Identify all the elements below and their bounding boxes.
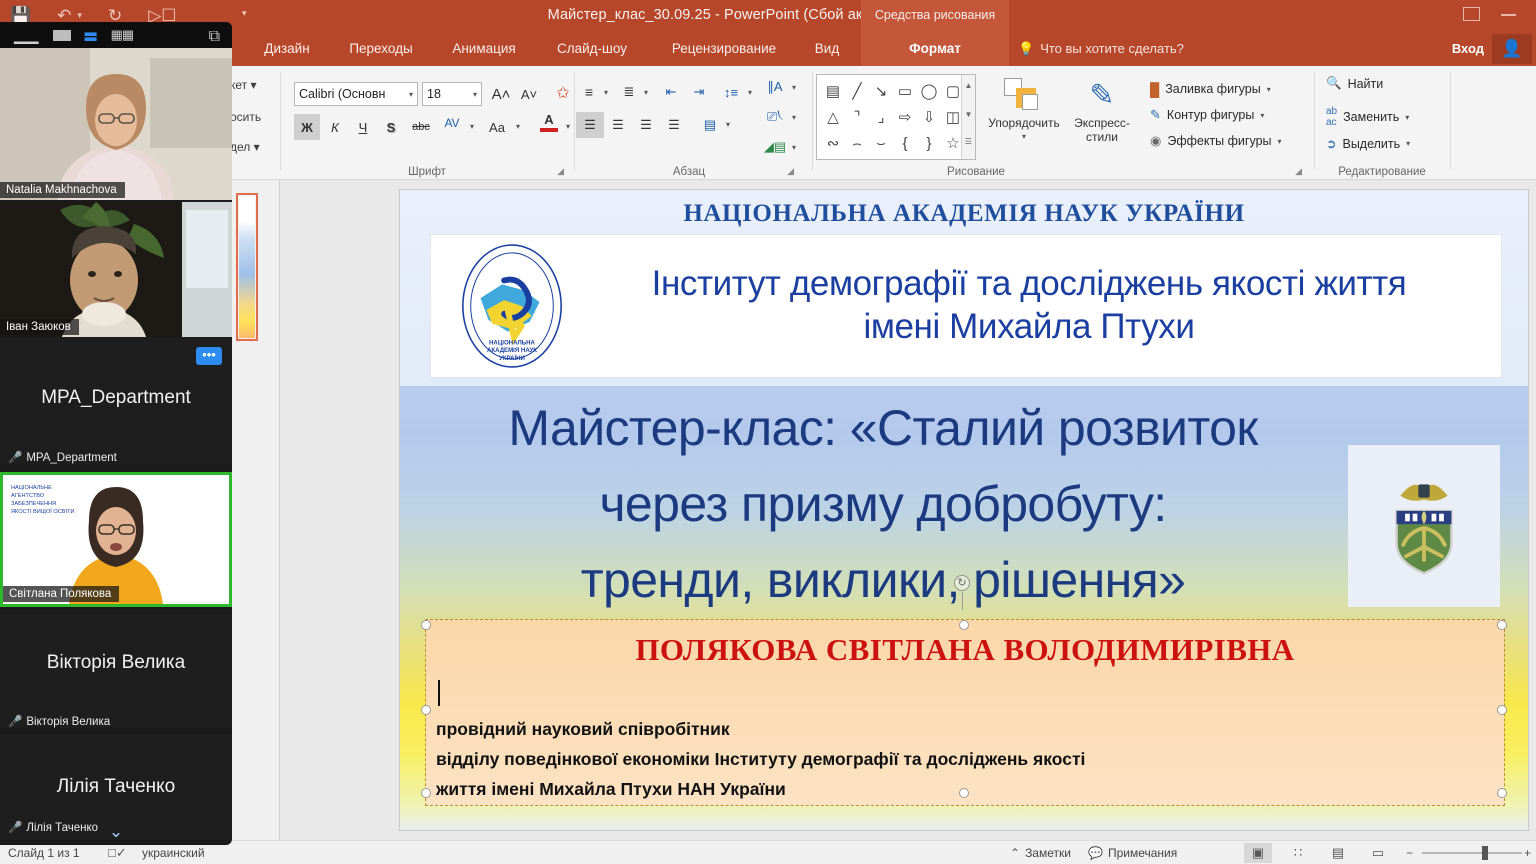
replace-icon: abac bbox=[1326, 106, 1337, 128]
tab-format[interactable]: Формат bbox=[861, 31, 1009, 66]
change-case-button[interactable]: Aa bbox=[482, 114, 512, 140]
notes-icon: ⌃ bbox=[1010, 843, 1020, 863]
strikethrough-button[interactable]: abc bbox=[406, 114, 436, 140]
reading-view-button[interactable]: ▤ bbox=[1324, 843, 1352, 863]
participant-name-mpa: MPA_Department bbox=[0, 387, 232, 409]
powerpoint-window: 💾 ↶ ▾ ↻ ▷☐ ▾ Майстер_клас_30.09.25 - Pow… bbox=[0, 0, 1536, 864]
institute-name: Інститут демографії та досліджень якості… bbox=[571, 263, 1501, 348]
font-size-value: 18 bbox=[427, 87, 441, 101]
search-icon: 🔍 bbox=[1326, 76, 1342, 91]
quick-styles-icon: ✎ bbox=[1064, 76, 1140, 116]
text-cursor bbox=[438, 680, 440, 706]
find-button[interactable]: 🔍 Найти bbox=[1326, 76, 1383, 91]
shape-oval-icon[interactable]: ◯ bbox=[917, 79, 941, 105]
shapes-gallery[interactable]: ▤ ╱ ↘ ▭ ◯ ▢ △ ⌝ ⌟ ⇨ ⇩ ◫ ∾ ⌢ ⌣ { } bbox=[816, 74, 976, 160]
lightbulb-icon: 💡 bbox=[1018, 41, 1034, 56]
restore-window-button[interactable] bbox=[1463, 7, 1480, 21]
svg-text:ЯКОСТІ ВИЩОЇ ОСВІТИ: ЯКОСТІ ВИЩОЇ ОСВІТИ bbox=[11, 508, 75, 515]
svg-text:НАЦІОНАЛЬНЕ: НАЦІОНАЛЬНЕ bbox=[11, 485, 52, 491]
speaker-name: ПОЛЯКОВА СВІТЛАНА ВОЛОДИМИРІВНА bbox=[426, 632, 1504, 668]
popout-icon[interactable]: ⧉ bbox=[209, 28, 220, 46]
smartart-caret[interactable]: ▾ bbox=[788, 138, 800, 156]
participant-name-liliia: Лілія Таченко bbox=[0, 776, 232, 798]
speaker-role: провідний науковий співробітник відділу … bbox=[436, 714, 1471, 804]
shape-fill-button[interactable]: █ Заливка фигуры ▾ bbox=[1150, 76, 1300, 102]
align-left-icon[interactable]: ☰ bbox=[576, 112, 604, 138]
columns-caret[interactable]: ▾ bbox=[722, 114, 734, 134]
text-direction-icon[interactable]: ∥A bbox=[762, 76, 788, 98]
tab-animations[interactable]: Анимация bbox=[440, 31, 528, 66]
group-drawing: ▤ ╱ ↘ ▭ ◯ ▢ △ ⌝ ⌟ ⇨ ⇩ ◫ ∾ ⌢ ⌣ { } bbox=[816, 66, 1308, 180]
participant-name-svitlana: Світлана Полякова bbox=[9, 588, 111, 600]
academy-header-text: НАЦІОНАЛЬНА АКАДЕМІЯ НАУК УКРАЇНИ bbox=[400, 200, 1528, 228]
group-drawing-label: Рисование bbox=[816, 166, 1136, 178]
shape-fill-caret[interactable]: ▾ bbox=[1267, 85, 1271, 94]
video-tile-natalia[interactable]: Natalia Makhnachova bbox=[0, 48, 232, 200]
text-direction-caret[interactable]: ▾ bbox=[788, 78, 800, 96]
quick-styles-button[interactable]: ✎ Экспресс-стили bbox=[1064, 76, 1140, 144]
video-tile-svitlana[interactable]: НАЦІОНАЛЬНЕ АГЕНТСТВО ЗАБЕЗПЕЧЕННЯ ЯКОСТ… bbox=[0, 472, 232, 607]
slide-canvas[interactable]: НАЦІОНАЛЬНА АКАДЕМІЯ НАУК УКРАЇНИ НАЦІОН… bbox=[400, 190, 1528, 830]
resize-handle-top-center[interactable] bbox=[959, 620, 969, 630]
line-spacing-caret[interactable]: ▾ bbox=[744, 82, 756, 102]
strip-view-icon[interactable]: ▬▬ bbox=[85, 30, 97, 40]
resize-handle-middle-right[interactable] bbox=[1497, 705, 1507, 715]
shape-outline-caret[interactable]: ▾ bbox=[1260, 111, 1264, 120]
tab-view[interactable]: Вид bbox=[806, 31, 848, 66]
speaker-role-line-3: життя імені Михайла Птухи НАН України bbox=[436, 774, 1471, 804]
font-color-letter: A bbox=[544, 114, 553, 126]
align-text-icon[interactable]: ⎚⎝ bbox=[762, 106, 788, 128]
shape-right-brace-icon[interactable]: } bbox=[917, 131, 941, 157]
shape-arc-icon[interactable]: ⌣ bbox=[869, 131, 893, 157]
align-text-caret[interactable]: ▾ bbox=[788, 108, 800, 126]
notes-label: Заметки bbox=[1025, 843, 1071, 863]
participant-name-natalia: Natalia Makhnachova bbox=[6, 184, 117, 196]
shape-left-brace-icon[interactable]: { bbox=[893, 131, 917, 157]
find-label: Найти bbox=[1348, 77, 1384, 91]
participant-strip-label-viktoriia: Вікторія Велика bbox=[26, 716, 110, 728]
replace-button[interactable]: abac Заменить ▾ bbox=[1326, 106, 1409, 128]
mic-muted-icon: 🎤 bbox=[8, 452, 22, 464]
svg-text:ЗАБЕЗПЕЧЕННЯ: ЗАБЕЗПЕЧЕННЯ bbox=[11, 501, 56, 507]
zoom-out-button[interactable]: − bbox=[1406, 844, 1413, 862]
participant-strip-viktoriia: 🎤Вікторія Велика bbox=[8, 714, 110, 728]
zoom-slider[interactable] bbox=[1422, 852, 1522, 854]
clear-formatting-icon[interactable]: ✩ bbox=[550, 80, 576, 106]
text-shadow-button[interactable]: S bbox=[378, 114, 404, 140]
resize-handle-top-left[interactable] bbox=[421, 620, 431, 630]
bullets-caret[interactable]: ▾ bbox=[600, 82, 612, 102]
shape-effects-button[interactable]: ◉ Эффекты фигуры ▾ bbox=[1150, 128, 1300, 154]
font-size-combobox[interactable]: 18 ▾ bbox=[422, 82, 482, 106]
tab-transitions[interactable]: Переходы bbox=[338, 31, 424, 66]
replace-label: Заменить bbox=[1343, 110, 1399, 124]
scroll-down-chevron[interactable]: ⌄ bbox=[0, 822, 232, 842]
slide-counter[interactable]: Слайд 1 из 1 bbox=[8, 844, 80, 862]
group-editing: 🔍 Найти abac Заменить ▾ ➲ Выделить ▾ Ред… bbox=[1318, 66, 1446, 180]
comment-icon: 💬 bbox=[1088, 843, 1103, 863]
align-right-icon[interactable]: ☰ bbox=[632, 112, 660, 138]
participant-name-viktoriia: Вікторія Велика bbox=[0, 652, 232, 674]
spellcheck-icon[interactable]: □✓ bbox=[108, 844, 127, 862]
grid-view-icon[interactable]: ▦▦ bbox=[111, 27, 134, 43]
group-paragraph-extras: ∥A ▾ ⎚⎝ ▾ ◢▤ ▾ bbox=[762, 66, 808, 180]
shapes-scroll-down[interactable]: ▼ bbox=[962, 110, 975, 119]
resize-handle-middle-left[interactable] bbox=[421, 705, 431, 715]
normal-view-button[interactable]: ▣ bbox=[1244, 843, 1272, 863]
resize-handle-bottom-right[interactable] bbox=[1497, 788, 1507, 798]
chevron-down-icon: ▾ bbox=[409, 90, 413, 99]
video-tile-mpa-department[interactable]: ••• MPA_Department bbox=[0, 337, 232, 464]
shape-freeform-icon[interactable]: ∾ bbox=[821, 131, 845, 157]
video-tile-label-natalia: Natalia Makhnachova bbox=[0, 182, 125, 198]
line-spacing-icon[interactable]: ↕≡ bbox=[718, 80, 744, 104]
decrease-font-size-button[interactable]: A˅ bbox=[516, 82, 542, 106]
svg-text:АГЕНТСТВО: АГЕНТСТВО bbox=[11, 493, 45, 499]
pencil-outline-icon: ✎ bbox=[1150, 107, 1161, 123]
tell-me-placeholder: Что вы хотите сделать? bbox=[1040, 41, 1184, 56]
bold-button[interactable]: Ж bbox=[294, 114, 320, 140]
replace-caret[interactable]: ▾ bbox=[1405, 113, 1409, 122]
select-caret[interactable]: ▾ bbox=[1406, 139, 1410, 148]
masterclass-line-1: Майстер-клас: «Сталий розвиток bbox=[418, 390, 1348, 466]
numbered-list-icon[interactable]: ≣ bbox=[616, 80, 642, 104]
decrease-indent-icon[interactable]: ⇤ bbox=[658, 80, 684, 104]
comments-label: Примечания bbox=[1108, 843, 1177, 863]
zoom-slider-knob[interactable] bbox=[1482, 846, 1488, 860]
rotation-stem bbox=[962, 592, 963, 610]
masterclass-line-2: через призму добробуту: bbox=[418, 466, 1348, 542]
mic-muted-icon: 🎤 bbox=[8, 716, 22, 728]
increase-indent-icon[interactable]: ⇥ bbox=[686, 80, 712, 104]
drawing-dialog-launcher[interactable]: ◢ bbox=[1295, 166, 1302, 177]
character-spacing-button[interactable]: AV bbox=[438, 110, 466, 136]
shapes-more[interactable]: ☰ bbox=[962, 137, 975, 146]
shape-right-arrow-icon[interactable]: ⇨ bbox=[893, 105, 917, 131]
sign-in-button[interactable]: Вход bbox=[1452, 31, 1484, 66]
slideshow-icon: ▭ bbox=[1372, 845, 1384, 861]
shape-textbox-icon[interactable]: ▤ bbox=[821, 79, 845, 105]
paint-bucket-icon: █ bbox=[1150, 82, 1159, 97]
resize-handle-bottom-left[interactable] bbox=[421, 788, 431, 798]
select-button[interactable]: ➲ Выделить ▾ bbox=[1326, 136, 1410, 151]
contextual-tab-group-label: Средства рисования bbox=[861, 0, 1009, 31]
font-name-combobox[interactable]: Calibri (Основн ▾ bbox=[294, 82, 418, 106]
shape-outline-button[interactable]: ✎ Контур фигуры ▾ bbox=[1150, 102, 1300, 128]
shape-triangle-icon[interactable]: △ bbox=[821, 105, 845, 131]
arrange-icon bbox=[988, 76, 1060, 116]
video-panel-toolbar: ▁▁ ▬▬ ▦▦ ⧉ bbox=[0, 22, 232, 48]
minimize-view-icon[interactable]: ▁▁ bbox=[14, 25, 39, 45]
arrange-caret[interactable]: ▾ bbox=[988, 132, 1060, 141]
rotate-handle[interactable]: ↻ bbox=[954, 575, 970, 591]
columns-icon[interactable]: ▤ bbox=[696, 112, 724, 138]
arrange-button[interactable]: Упорядочить ▾ bbox=[988, 76, 1060, 141]
resize-handle-top-right[interactable] bbox=[1497, 620, 1507, 630]
masterclass-title[interactable]: Майстер-клас: «Сталий розвиток через при… bbox=[418, 390, 1348, 618]
group-font-label: Шрифт bbox=[284, 166, 570, 178]
bullet-list-icon[interactable]: ≡ bbox=[576, 80, 602, 104]
chevron-down-icon: ▾ bbox=[473, 90, 477, 99]
shape-rectangle-icon[interactable]: ▭ bbox=[893, 79, 917, 105]
font-color-button[interactable]: A bbox=[536, 110, 562, 136]
status-bar: Слайд 1 из 1 □✓ украинский ⌃ Заметки 💬 П… bbox=[0, 840, 1536, 864]
resize-handle-bottom-center[interactable] bbox=[959, 788, 969, 798]
shape-fill-label: Заливка фигуры bbox=[1165, 82, 1260, 96]
language-indicator[interactable]: украинский bbox=[142, 844, 205, 862]
smartart-icon[interactable]: ◢▤ bbox=[762, 136, 788, 158]
video-tile-label-ivan: Іван Заюков bbox=[0, 319, 79, 335]
slide-thumbnail-selection bbox=[236, 193, 258, 341]
italic-button[interactable]: К bbox=[322, 114, 348, 140]
participant-strip-label-mpa: MPA_Department bbox=[26, 452, 117, 464]
comments-button[interactable]: 💬 Примечания bbox=[1088, 843, 1177, 863]
coat-of-arms-emblem[interactable] bbox=[1348, 445, 1500, 607]
shapes-scroll-up[interactable]: ▲ bbox=[962, 81, 975, 90]
shape-line-icon[interactable]: ╱ bbox=[845, 79, 869, 105]
svg-text:НАЦІОНАЛЬНА: НАЦІОНАЛЬНА bbox=[489, 339, 536, 346]
svg-text:УКРАЇНИ: УКРАЇНИ bbox=[499, 355, 525, 362]
character-spacing-caret[interactable]: ▾ bbox=[466, 116, 478, 136]
shape-effects-caret[interactable]: ▾ bbox=[1278, 137, 1282, 146]
tab-slideshow[interactable]: Слайд-шоу bbox=[546, 31, 638, 66]
quick-styles-label: Экспресс-стили bbox=[1064, 116, 1140, 144]
shape-down-arrow-icon[interactable]: ⇩ bbox=[917, 105, 941, 131]
video-conference-panel[interactable]: ▁▁ ▬▬ ▦▦ ⧉ Natalia Makhnachova bbox=[0, 22, 232, 845]
institute-name-line1: Інститут демографії та досліджень якості… bbox=[571, 263, 1487, 306]
select-label: Выделить bbox=[1342, 137, 1400, 151]
person-add-icon[interactable]: 👤 bbox=[1492, 34, 1532, 64]
more-options-button[interactable]: ••• bbox=[196, 347, 222, 365]
increase-font-size-button[interactable]: A˄ bbox=[488, 82, 514, 106]
minimize-window-button[interactable] bbox=[1501, 14, 1516, 16]
group-font: Calibri (Основн ▾ 18 ▾ A˄ A˅ ✩ Ж К Ч S a… bbox=[284, 66, 570, 180]
arrange-label: Упорядочить bbox=[988, 116, 1060, 130]
shape-format-commands: █ Заливка фигуры ▾ ✎ Контур фигуры ▾ ◉ Э… bbox=[1150, 76, 1300, 154]
video-tile-viktoriia[interactable]: Вікторія Велика bbox=[0, 610, 232, 728]
zoom-in-button[interactable]: + bbox=[1524, 844, 1531, 862]
underline-button[interactable]: Ч bbox=[350, 114, 376, 140]
change-case-caret[interactable]: ▾ bbox=[512, 116, 524, 136]
participant-name-ivan: Іван Заюков bbox=[6, 321, 71, 333]
shape-arrow-icon[interactable]: ↘ bbox=[869, 79, 893, 105]
slide-sorter-icon: ∷ bbox=[1294, 845, 1302, 861]
shape-elbow-connector-icon[interactable]: ⌝ bbox=[845, 105, 869, 131]
align-center-icon[interactable]: ☰ bbox=[604, 112, 632, 138]
masterclass-line-3: тренди, виклики, рішення» bbox=[418, 542, 1348, 618]
tab-design[interactable]: Дизайн bbox=[254, 31, 320, 66]
cursor-arrow-icon: ➲ bbox=[1326, 136, 1336, 151]
video-tile-label-svitlana: Світлана Полякова bbox=[3, 586, 119, 602]
numbering-caret[interactable]: ▾ bbox=[640, 82, 652, 102]
font-dialog-launcher[interactable]: ◢ bbox=[557, 166, 564, 177]
font-name-value: Calibri (Основн bbox=[299, 87, 385, 101]
tell-me-search[interactable]: 💡Что вы хотите сделать? bbox=[1018, 31, 1184, 66]
institute-name-line2: імені Михайла Птухи bbox=[571, 306, 1487, 349]
slideshow-button[interactable]: ▭ bbox=[1364, 843, 1392, 863]
speaker-textbox[interactable]: ПОЛЯКОВА СВІТЛАНА ВОЛОДИМИРІВНА провідни… bbox=[426, 620, 1504, 805]
notes-button[interactable]: ⌃ Заметки bbox=[1010, 843, 1071, 863]
normal-view-icon: ▣ bbox=[1252, 845, 1264, 861]
svg-text:АКАДЕМІЯ НАУК: АКАДЕМІЯ НАУК bbox=[487, 347, 537, 354]
speaker-role-line-2: відділу поведінкової економіки Інституту… bbox=[436, 744, 1471, 774]
justify-icon[interactable]: ☰ bbox=[660, 112, 688, 138]
reading-view-icon: ▤ bbox=[1332, 845, 1344, 861]
institute-banner[interactable]: НАЦІОНАЛЬНА АКАДЕМІЯ НАУК УКРАЇНИ Інстит… bbox=[430, 234, 1502, 378]
font-color-caret[interactable]: ▾ bbox=[562, 116, 574, 136]
speaker-view-icon[interactable] bbox=[53, 30, 71, 41]
effects-icon: ◉ bbox=[1150, 133, 1161, 149]
tab-review[interactable]: Рецензирование bbox=[654, 31, 794, 66]
slide-sorter-button[interactable]: ∷ bbox=[1284, 843, 1312, 863]
shape-curve-icon[interactable]: ⌢ bbox=[845, 131, 869, 157]
shape-effects-label: Эффекты фигуры bbox=[1167, 134, 1271, 148]
group-editing-label: Редактирование bbox=[1318, 166, 1446, 178]
speaker-role-line-1: провідний науковий співробітник bbox=[436, 714, 1471, 744]
shape-elbow-arrow-icon[interactable]: ⌟ bbox=[869, 105, 893, 131]
participant-strip-mpa: 🎤MPA_Department bbox=[8, 450, 117, 464]
shape-outline-label: Контур фигуры bbox=[1167, 108, 1254, 122]
video-tile-ivan[interactable]: Іван Заюков bbox=[0, 202, 232, 337]
institute-logo: НАЦІОНАЛЬНА АКАДЕМІЯ НАУК УКРАЇНИ bbox=[453, 241, 571, 371]
